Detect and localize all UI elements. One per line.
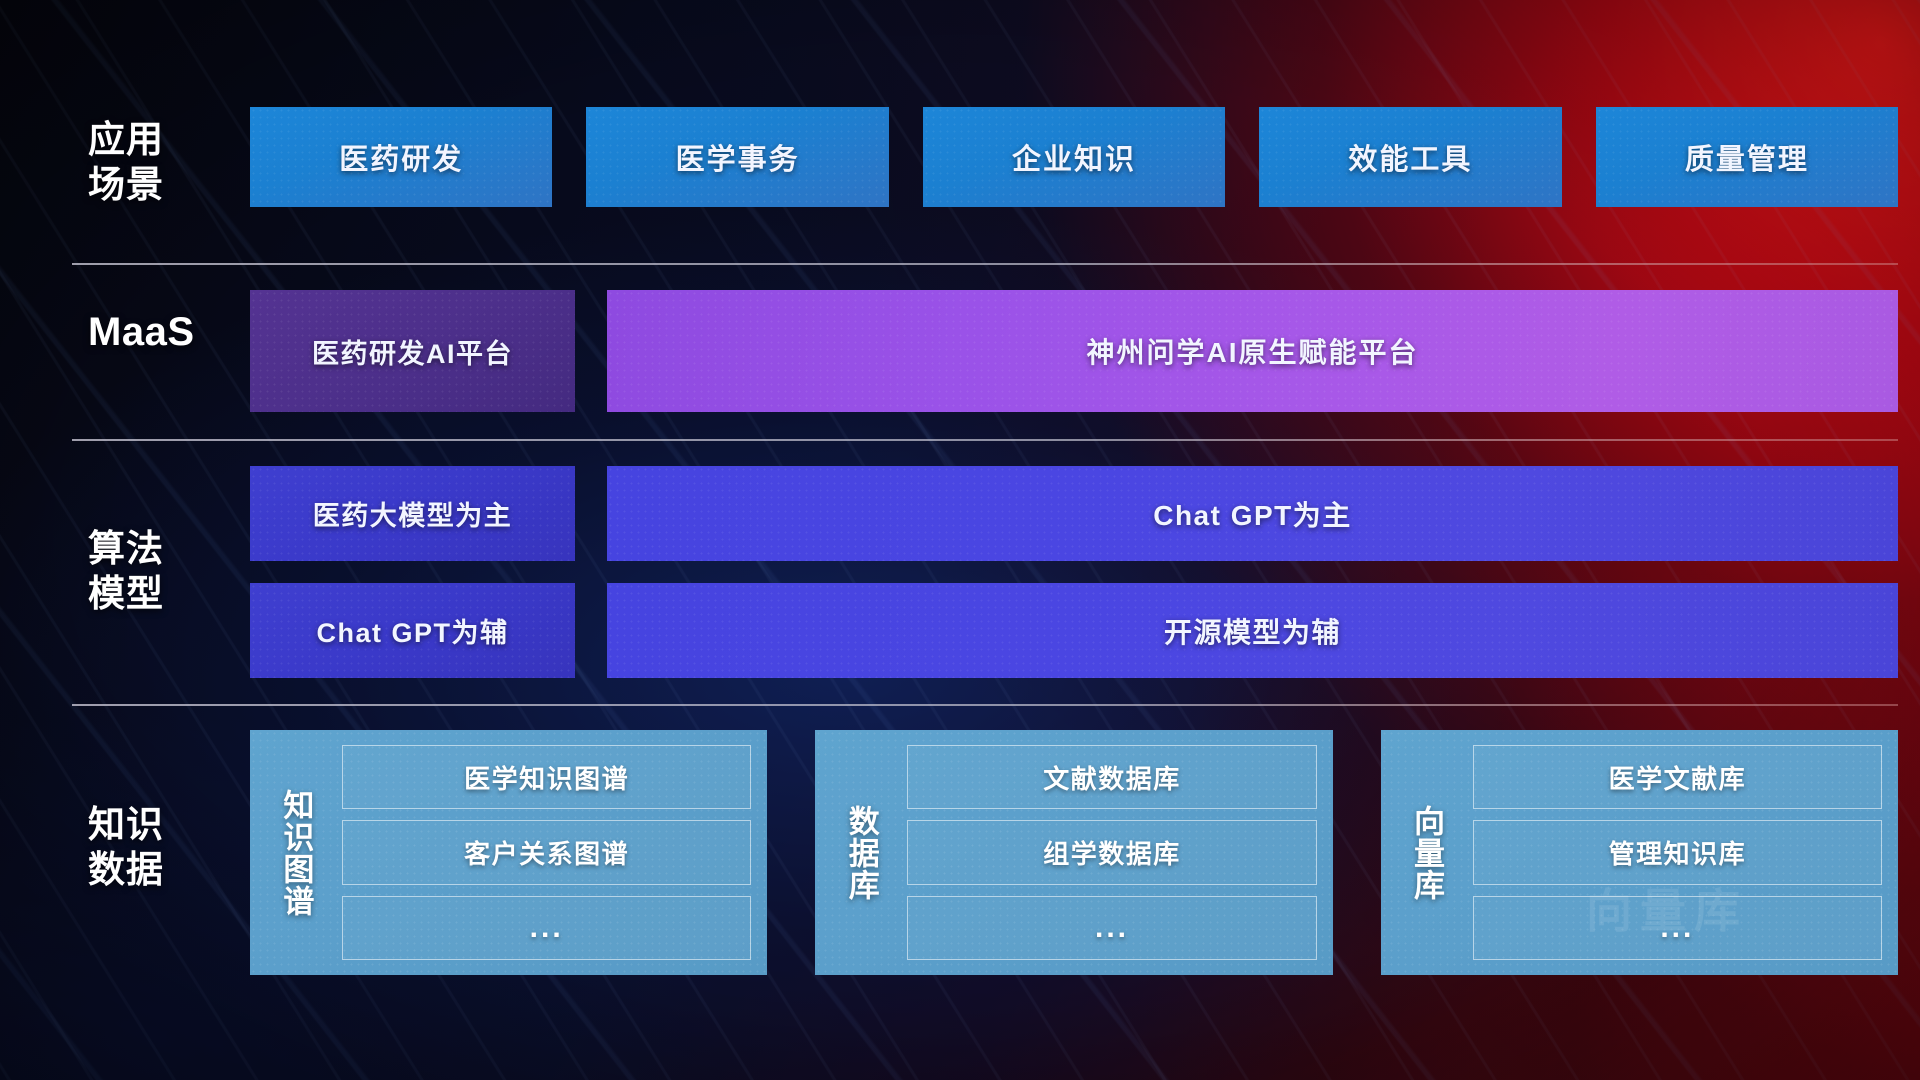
algorithm-card-0-right-label: Chat GPT为主 bbox=[1153, 494, 1352, 534]
algorithm-line-1: Chat GPT为辅 开源模型为辅 bbox=[250, 583, 1898, 678]
knowledge-group-1-item-0[interactable]: 文献数据库 bbox=[907, 745, 1316, 809]
maas-card-pharma-ai-platform-label: 医药研发AI平台 bbox=[312, 332, 513, 371]
knowledge-group-1-title: 数据库 bbox=[827, 742, 893, 963]
application-card-3-label: 效能工具 bbox=[1348, 136, 1472, 178]
row-label-application: 应用场景 bbox=[88, 117, 238, 207]
knowledge-group-2-items: 医学文献库 管理知识库 ... bbox=[1471, 742, 1884, 963]
maas-card-shenzhou-wenxue-platform-label: 神州问学AI原生赋能平台 bbox=[1086, 331, 1418, 371]
application-card-0[interactable]: 医药研发 bbox=[250, 107, 552, 207]
row-label-knowledge: 知识数据 bbox=[88, 802, 238, 892]
application-card-1-label: 医学事务 bbox=[676, 136, 800, 178]
algorithm-card-list: 医药大模型为主 Chat GPT为主 Chat GPT为辅 开源模型为辅 bbox=[250, 466, 1898, 678]
application-card-4[interactable]: 质量管理 bbox=[1596, 107, 1898, 207]
knowledge-group-2-item-0[interactable]: 医学文献库 bbox=[1473, 745, 1882, 809]
algorithm-card-1-left-label: Chat GPT为辅 bbox=[316, 611, 508, 650]
application-card-list: 医药研发 医学事务 企业知识 效能工具 质量管理 bbox=[250, 107, 1898, 207]
knowledge-group-1-item-1[interactable]: 组学数据库 bbox=[907, 820, 1316, 884]
knowledge-group-0-item-0[interactable]: 医学知识图谱 bbox=[342, 745, 751, 809]
knowledge-group-0-item-2[interactable]: ... bbox=[342, 896, 751, 960]
application-card-2-label: 企业知识 bbox=[1012, 136, 1136, 178]
application-card-2[interactable]: 企业知识 bbox=[923, 107, 1225, 207]
application-card-3[interactable]: 效能工具 bbox=[1259, 107, 1561, 207]
application-card-0-label: 医药研发 bbox=[339, 136, 463, 178]
algorithm-card-0-left[interactable]: 医药大模型为主 bbox=[250, 466, 575, 561]
maas-card-pharma-ai-platform[interactable]: 医药研发AI平台 bbox=[250, 290, 575, 412]
row-label-algorithm: 算法模型 bbox=[88, 526, 238, 616]
algorithm-card-0-left-label: 医药大模型为主 bbox=[313, 494, 513, 533]
algorithm-card-1-left[interactable]: Chat GPT为辅 bbox=[250, 583, 575, 678]
knowledge-group-0-item-1[interactable]: 客户关系图谱 bbox=[342, 820, 751, 884]
application-card-4-label: 质量管理 bbox=[1685, 136, 1809, 178]
algorithm-card-1-right-label: 开源模型为辅 bbox=[1164, 611, 1341, 651]
knowledge-group-0-title: 知识图谱 bbox=[262, 742, 328, 963]
knowledge-group-2[interactable]: 向量库 向量库 医学文献库 管理知识库 ... bbox=[1381, 730, 1898, 975]
knowledge-group-1[interactable]: 数据库 文献数据库 组学数据库 ... bbox=[815, 730, 1332, 975]
knowledge-group-2-title: 向量库 bbox=[1393, 742, 1459, 963]
knowledge-group-1-items: 文献数据库 组学数据库 ... bbox=[905, 742, 1318, 963]
row-label-maas: MaaS bbox=[88, 308, 238, 357]
divider-algorithm-knowledge bbox=[72, 704, 1898, 706]
knowledge-group-1-item-2[interactable]: ... bbox=[907, 896, 1316, 960]
algorithm-line-0: 医药大模型为主 Chat GPT为主 bbox=[250, 466, 1898, 561]
maas-card-shenzhou-wenxue-platform[interactable]: 神州问学AI原生赋能平台 bbox=[607, 290, 1898, 412]
divider-maas-algorithm bbox=[72, 439, 1898, 441]
divider-application-maas bbox=[72, 263, 1898, 265]
algorithm-card-1-right[interactable]: 开源模型为辅 bbox=[607, 583, 1898, 678]
knowledge-group-2-item-2[interactable]: ... bbox=[1473, 896, 1882, 960]
application-card-1[interactable]: 医学事务 bbox=[586, 107, 888, 207]
knowledge-group-list: 知识图谱 医学知识图谱 客户关系图谱 ... 数据库 文献数据库 组学数据库 .… bbox=[250, 730, 1898, 975]
maas-card-list: 医药研发AI平台 神州问学AI原生赋能平台 bbox=[250, 290, 1898, 412]
diagram-canvas: 应用场景 医药研发 医学事务 企业知识 效能工具 质量管理 bbox=[0, 0, 1920, 1080]
knowledge-group-0[interactable]: 知识图谱 医学知识图谱 客户关系图谱 ... bbox=[250, 730, 767, 975]
knowledge-group-0-items: 医学知识图谱 客户关系图谱 ... bbox=[340, 742, 753, 963]
knowledge-group-2-item-1[interactable]: 管理知识库 bbox=[1473, 820, 1882, 884]
algorithm-card-0-right[interactable]: Chat GPT为主 bbox=[607, 466, 1898, 561]
